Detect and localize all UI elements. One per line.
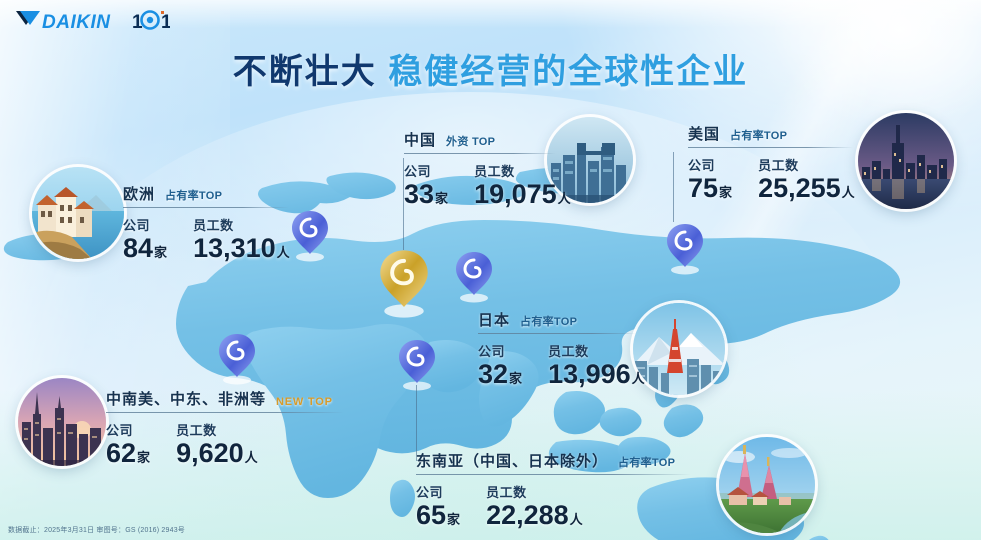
region-name-sea: 东南亚（中国、日本除外）: [416, 450, 608, 471]
region-tag-japan: 占有率TOP: [520, 313, 577, 329]
region-metrics-europe: 公司 84家 员工数 13,310人: [123, 208, 289, 263]
map-pin-southeast-asia[interactable]: [395, 336, 439, 392]
region-name-europe: 欧洲: [123, 183, 155, 204]
employees-unit-sea: 人: [570, 512, 583, 527]
title-part-1: 不断壮大: [233, 53, 377, 91]
region-header-china: 中国 外资 TOP: [404, 129, 556, 153]
metric-value-companies-japan: 32家: [478, 360, 522, 389]
metric-label-employees: 员工数: [548, 341, 645, 360]
region-tag-sea: 占有率TOP: [618, 454, 675, 470]
region-name-latam: 中南美、中东、非洲等: [106, 388, 266, 409]
region-tag-china: 外资 TOP: [446, 133, 495, 149]
region-card-usa[interactable]: 美国 占有率TOP 公司 75家 员工数 25,255人: [688, 123, 853, 203]
region-card-china[interactable]: 中国 外资 TOP 公司 33家 员工数 19,075人: [404, 129, 556, 209]
metric-value-employees-japan: 13,996人: [548, 360, 645, 389]
companies-number-sea: 65: [416, 500, 446, 530]
divider-latam: [106, 412, 344, 413]
companies-unit-sea: 家: [447, 512, 460, 527]
companies-unit-europe: 家: [154, 245, 167, 260]
metric-label-companies: 公司: [688, 155, 732, 174]
companies-number-latam: 62: [106, 438, 136, 468]
metric-value-employees-sea: 22,288人: [486, 501, 583, 530]
southeast-asia-temple-photo: [719, 437, 815, 533]
region-metrics-usa: 公司 75家 员工数 25,255人: [688, 148, 853, 203]
metric-label-companies: 公司: [404, 161, 448, 180]
employees-number-latam: 9,620: [176, 438, 244, 468]
region-card-europe[interactable]: 欧洲 占有率TOP 公司 84家 员工数 13,310人: [123, 183, 289, 263]
metric-value-companies-china: 33家: [404, 180, 448, 209]
metric-employees-europe: 员工数 13,310人: [193, 215, 290, 263]
employees-unit-latam: 人: [245, 450, 258, 465]
metric-label-employees: 员工数: [193, 215, 290, 234]
companies-number-usa: 75: [688, 173, 718, 203]
metric-value-companies-sea: 65家: [416, 501, 460, 530]
companies-unit-latam: 家: [137, 450, 150, 465]
employees-number-china: 19,075: [474, 179, 557, 209]
middle-east-skyline-photo: [18, 378, 106, 466]
region-tag-latam: NEW TOP: [276, 396, 333, 408]
region-header-latam: 中南美、中东、非洲等 NEW TOP: [106, 388, 344, 412]
companies-unit-usa: 家: [719, 185, 732, 200]
region-metrics-japan: 公司 32家 员工数 13,996人: [478, 334, 636, 389]
region-name-japan: 日本: [478, 309, 510, 330]
metric-label-companies: 公司: [123, 215, 167, 234]
map-pin-usa[interactable]: [663, 220, 707, 276]
divider-japan: [478, 333, 636, 334]
employees-unit-japan: 人: [632, 371, 645, 386]
map-pin-china[interactable]: [375, 245, 433, 319]
divider-sea: [416, 474, 691, 475]
metric-value-companies-latam: 62家: [106, 439, 150, 468]
daikin-logo: DAIKIN 1 1: [16, 8, 170, 34]
metric-companies-sea: 公司 65家: [416, 482, 460, 530]
region-tag-europe: 占有率TOP: [165, 187, 222, 203]
employees-unit-usa: 人: [842, 185, 855, 200]
divider-usa: [688, 147, 853, 148]
metric-employees-japan: 员工数 13,996人: [548, 341, 645, 389]
japan-tokyo-tower-photo: [633, 303, 725, 395]
metric-value-employees-china: 19,075人: [474, 180, 571, 209]
companies-number-europe: 84: [123, 233, 153, 263]
svg-text:1: 1: [161, 12, 170, 33]
region-header-japan: 日本 占有率TOP: [478, 309, 636, 333]
metric-value-employees-usa: 25,255人: [758, 174, 855, 203]
leader-line-sea-v: [416, 385, 417, 460]
map-pin-africa[interactable]: [215, 330, 259, 386]
svg-text:DAIKIN: DAIKIN: [42, 12, 111, 33]
divider-europe: [123, 207, 289, 208]
metric-employees-usa: 员工数 25,255人: [758, 155, 855, 203]
metric-label-companies: 公司: [416, 482, 460, 501]
region-name-china: 中国: [404, 129, 436, 150]
companies-number-china: 33: [404, 179, 434, 209]
metric-label-companies: 公司: [478, 341, 522, 360]
region-metrics-china: 公司 33家 员工数 19,075人: [404, 154, 556, 209]
page-title: 不断壮大 稳健经营的全球性企业: [0, 44, 981, 93]
metric-label-employees: 员工数: [486, 482, 583, 501]
metric-label-employees: 员工数: [474, 161, 571, 180]
metric-companies-china: 公司 33家: [404, 161, 448, 209]
companies-unit-china: 家: [435, 191, 448, 206]
usa-newyork-skyline-photo: [858, 113, 954, 209]
divider-china: [404, 153, 556, 154]
metric-label-employees: 员工数: [758, 155, 855, 174]
region-tag-usa: 占有率TOP: [730, 127, 787, 143]
metric-companies-usa: 公司 75家: [688, 155, 732, 203]
footnote-data-source: 数据截止：2025年3月31日 审图号：GS (2016) 2943号: [8, 525, 185, 535]
leader-line-usa: [673, 152, 674, 222]
region-card-japan[interactable]: 日本 占有率TOP 公司 32家 员工数 13,996人: [478, 309, 636, 389]
region-name-usa: 美国: [688, 123, 720, 144]
companies-number-japan: 32: [478, 359, 508, 389]
metric-value-companies-usa: 75家: [688, 174, 732, 203]
employees-unit-china: 人: [558, 191, 571, 206]
metric-label-employees: 员工数: [176, 420, 258, 439]
europe-coastal-village-photo: [32, 167, 124, 259]
metric-label-companies: 公司: [106, 420, 150, 439]
companies-unit-japan: 家: [509, 371, 522, 386]
metric-value-employees-europe: 13,310人: [193, 234, 290, 263]
region-header-sea: 东南亚（中国、日本除外） 占有率TOP: [416, 450, 691, 474]
employees-unit-europe: 人: [277, 245, 290, 260]
region-metrics-latam: 公司 62家 员工数 9,620人: [106, 413, 344, 468]
region-card-latam-mideast-africa[interactable]: 中南美、中东、非洲等 NEW TOP 公司 62家 员工数 9,620人: [106, 388, 344, 468]
employees-number-europe: 13,310: [193, 233, 276, 263]
metric-companies-europe: 公司 84家: [123, 215, 167, 263]
employees-number-usa: 25,255: [758, 173, 841, 203]
region-header-usa: 美国 占有率TOP: [688, 123, 853, 147]
metric-employees-latam: 员工数 9,620人: [176, 420, 258, 468]
title-part-2: 稳健经营的全球性企业: [388, 53, 748, 91]
metric-employees-china: 员工数 19,075人: [474, 161, 571, 209]
map-pin-japan[interactable]: [452, 248, 496, 304]
anniversary-101-icon: 1 1: [132, 8, 170, 34]
metric-employees-sea: 员工数 22,288人: [486, 482, 583, 530]
employees-number-japan: 13,996: [548, 359, 631, 389]
employees-number-sea: 22,288: [486, 500, 569, 530]
metric-value-companies-europe: 84家: [123, 234, 167, 263]
region-card-southeast-asia[interactable]: 东南亚（中国、日本除外） 占有率TOP 公司 65家 员工数 22,288人: [416, 450, 691, 530]
metric-value-employees-latam: 9,620人: [176, 439, 258, 468]
region-metrics-sea: 公司 65家 员工数 22,288人: [416, 475, 691, 530]
metric-companies-latam: 公司 62家: [106, 420, 150, 468]
region-header-europe: 欧洲 占有率TOP: [123, 183, 289, 207]
metric-companies-japan: 公司 32家: [478, 341, 522, 389]
map-pin-europe[interactable]: [288, 207, 332, 263]
daikin-wordmark-icon: DAIKIN: [16, 8, 124, 34]
